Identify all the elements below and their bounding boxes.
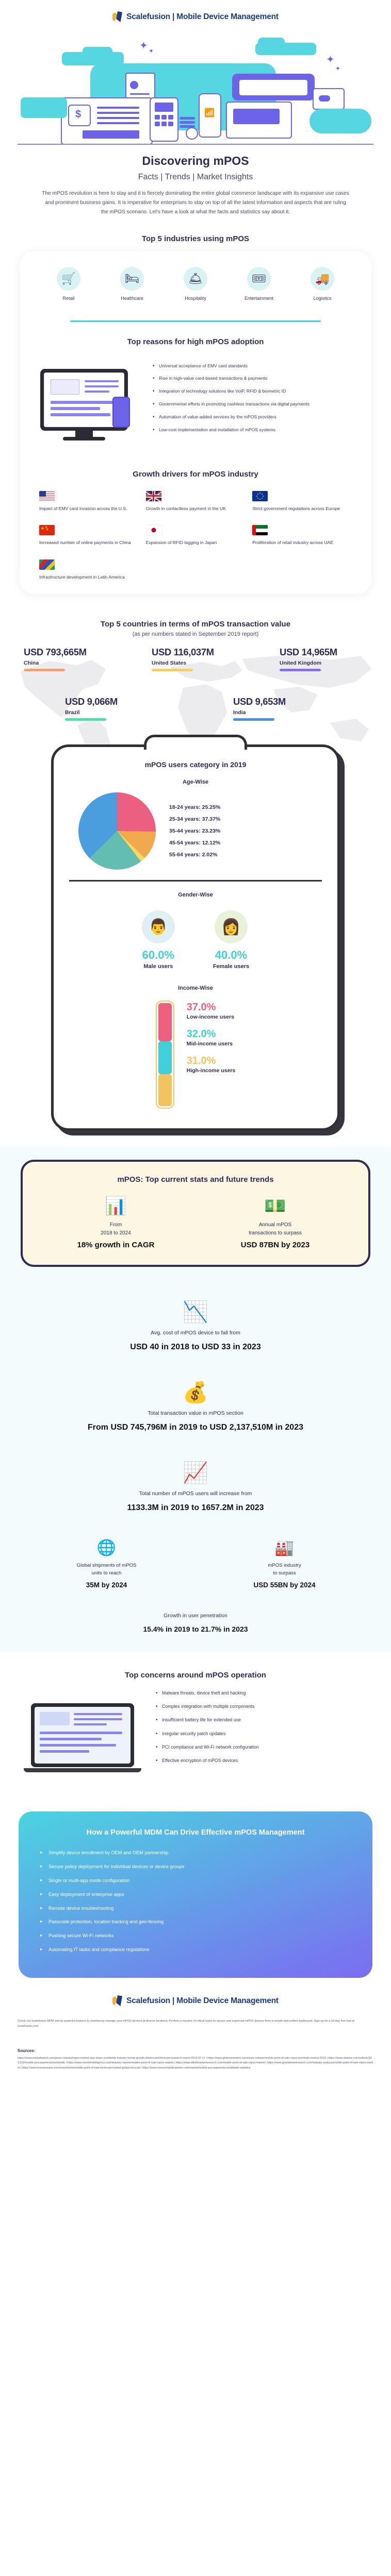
footer-brand-name: Scalefusion | Mobile Device Management [126, 1996, 279, 2006]
stat-item: 📊 From 2018 to 2024 18% growth in CAGR [52, 1197, 181, 1249]
stat-value: USD 55BN by 2024 [218, 1581, 352, 1589]
cta-item: Passcode protection, location tracking a… [39, 1919, 352, 1926]
globe-shipment-icon: 🌐 [40, 1539, 174, 1557]
adoption-reason: Low-cost implementation and installation… [153, 427, 356, 433]
stat-value: 15.4% in 2019 to 21.7% in 2023 [21, 1624, 370, 1635]
cta-item: Simplify device enrollment by OEM and OE… [39, 1850, 352, 1857]
country-value: USD 116,037M [152, 647, 255, 658]
industry-label: Retail [38, 296, 99, 301]
intro-paragraph: The mPOS revolution is here to stay and … [41, 189, 350, 217]
income-label: Mid-income users [187, 1041, 236, 1047]
sources-heading: Sources: [18, 2048, 373, 2053]
industry-label: Entertainment [229, 296, 289, 301]
concerns-heading: Top concerns around mPOS operation [0, 1671, 391, 1680]
stat-caption: Annual mPOS transactions to surpass [211, 1221, 340, 1237]
stat-value: 35M by 2024 [40, 1581, 174, 1589]
age-legend-item: 45-54 years: 12.12% [169, 840, 220, 846]
stat-value: USD 87BN by 2023 [211, 1241, 340, 1249]
income-pct: 32.0% [187, 1028, 236, 1040]
male-avatar-icon: 👨 [142, 910, 175, 943]
flag-eu-icon [252, 491, 268, 501]
adoption-reason: Integration of technology solutions like… [153, 388, 356, 395]
infographic-page: Scalefusion | Mobile Device Management ✦… [0, 0, 391, 2076]
ticket-icon: 🎟 [247, 267, 271, 291]
industries-heading: Top 5 industries using mPOS [0, 234, 391, 243]
income-thermometer [156, 1001, 174, 1109]
cta-heading: How a Powerful MDM Can Drive Effective m… [39, 1827, 352, 1838]
country-underline [65, 718, 106, 721]
stat-item: 💵 Annual mPOS transactions to surpass US… [211, 1197, 340, 1249]
growth-driver-item: Growth in contactless payment in the UK [146, 491, 246, 512]
concern-item: Malware threats, device theft and hackin… [156, 1690, 259, 1697]
stat-caption: Growth in user penetration [21, 1613, 370, 1619]
age-legend-item: 18-24 years: 25.25% [169, 804, 220, 810]
growth-arrow-icon: 📈 [21, 1463, 370, 1483]
country-value: USD 793,665M [24, 647, 127, 658]
gender-item: 👨 60.0% Male users [142, 910, 175, 970]
growth-driver-label: Increased number of online payments in C… [39, 539, 139, 546]
cta-item: Remote device troubleshooting [39, 1905, 352, 1912]
growth-driver-item: Proliferation of retail industry across … [252, 525, 352, 546]
income-list: 37.0% Low-income users 32.0% Mid-income … [187, 1001, 236, 1109]
industry-item: 🛏 Healthcare [102, 267, 162, 301]
countries-section: Top 5 countries in terms of mPOS transac… [0, 602, 391, 741]
country-name: India [233, 709, 336, 716]
stat-block: 💰 Total transaction value in mPOS sectio… [0, 1359, 391, 1439]
age-legend-item: 55-64 years: 2.02% [169, 852, 220, 858]
scalefusion-logo-icon [112, 11, 123, 23]
country-name: United Kingdom [280, 660, 367, 666]
brand-name: Scalefusion | Mobile Device Management [126, 12, 279, 22]
income-item: 31.0% High-income users [187, 1055, 236, 1074]
industry-label: Hospitality [165, 296, 226, 301]
flag-jp-icon [146, 525, 161, 535]
growth-drivers-grid: Impact of EMV card invasion across the U… [35, 491, 356, 581]
cta-panel: How a Powerful MDM Can Drive Effective m… [19, 1811, 372, 1978]
tablet-divider [69, 880, 322, 882]
declining-bars-icon: 📉 [21, 1302, 370, 1323]
banknotes-icon: 💵 [211, 1197, 340, 1215]
growth-driver-label: Expansion of RFID tagging in Japan [146, 539, 246, 546]
stat-caption: mPOS industry to surpass [218, 1562, 352, 1577]
stat-item: 🌐 Global shipments of mPOS units to reac… [40, 1539, 174, 1589]
growth-driver-label: Infrastructure development in Latin Amer… [39, 574, 139, 581]
country-name: Brazil [65, 709, 168, 716]
header-brand: Scalefusion | Mobile Device Management [0, 0, 391, 30]
country-item: USD 9,066M Brazil [65, 696, 168, 721]
concern-item: PCI compliance and Wi-Fi network configu… [156, 1744, 259, 1751]
stats-bottom-two: 🌐 Global shipments of mPOS units to reac… [0, 1524, 391, 1592]
cta-list: Simplify device enrollment by OEM and OE… [39, 1850, 352, 1953]
cta-item: Automating IT tasks and compliance regul… [39, 1946, 352, 1954]
sources-list: https://www.marketwatch.com/press-releas… [18, 2056, 373, 2071]
country-name: United States [152, 660, 255, 666]
stats-card: mPOS: Top current stats and future trend… [21, 1160, 370, 1267]
country-underline [280, 669, 321, 671]
age-legend-item: 35-44 years: 23.23% [169, 828, 220, 834]
adoption-reason: Automation of value-added services by th… [153, 414, 356, 420]
hero-illustration: ✦ ✦ ✦ ✦ $ 📶 [0, 31, 391, 151]
age-wise-label: Age-Wise [69, 779, 322, 785]
truck-icon: 🚚 [311, 267, 334, 291]
flag-ae-icon [252, 525, 268, 535]
cta-item: Single or multi-app mode configuration [39, 1877, 352, 1885]
concern-item: Effective encryption of mPOS devices [156, 1757, 259, 1764]
industry-label: Logistics [292, 296, 353, 301]
flag-uk-icon [146, 491, 161, 501]
stats-heading: mPOS: Top current stats and future trend… [36, 1175, 355, 1184]
industries-card: 🛒 Retail 🛏 Healthcare 🛎 Hospitality 🎟 En… [20, 251, 371, 595]
hospital-bed-icon: 🛏 [120, 267, 144, 291]
concern-item: Insufficient battery life for extended u… [156, 1717, 259, 1723]
tablet-frame: mPOS users category in 2019 Age-Wise 18-… [51, 744, 340, 1131]
growth-driver-label: Strict government regulations across Eur… [252, 505, 352, 512]
adoption-reason: Universal acceptance of EMV card standar… [153, 363, 356, 369]
stat-caption: Avg. cost of mPOS device to fall from [21, 1330, 370, 1336]
country-name: China [24, 660, 127, 666]
income-item: 37.0% Low-income users [187, 1002, 236, 1020]
stat-value: USD 40 in 2018 to USD 33 in 2023 [21, 1341, 370, 1353]
gender-pct: 60.0% [142, 948, 175, 962]
income-pct: 31.0% [187, 1055, 236, 1067]
country-underline [152, 669, 193, 671]
cta-item: Pushing secure Wi-Fi networks [39, 1933, 352, 1940]
adoption-heading: Top reasons for high mPOS adoption [35, 337, 356, 346]
cta-item: Easy deployment of enterprise apps [39, 1891, 352, 1899]
gender-wise-label: Gender-Wise [69, 892, 322, 898]
income-wise-label: Income-Wise [69, 985, 322, 991]
stat-value: From USD 745,796M in 2019 to USD 2,137,5… [21, 1421, 370, 1434]
gender-label: Female users [213, 963, 249, 970]
income-label: High-income users [187, 1067, 236, 1074]
country-value: USD 9,066M [65, 696, 168, 707]
stat-block: 📈 Total number of mPOS users will increa… [0, 1439, 391, 1524]
cta-item: Secure policy deployment for individual … [39, 1863, 352, 1871]
country-value: USD 14,965M [280, 647, 367, 658]
flag-cn-icon: ★ ★ ★ [39, 525, 55, 535]
industry-item: 🛎 Hospitality [165, 267, 226, 301]
growth-driver-label: Proliferation of retail industry across … [252, 539, 352, 546]
age-legend: 18-24 years: 25.25% 25-34 years: 37.37% … [169, 799, 220, 863]
countries-grid: USD 793,665M China USD 116,037M United S… [0, 637, 391, 721]
adoption-reasons-list: Universal acceptance of EMV card standar… [153, 360, 356, 439]
footer-note: Check out Scalefusion MDM and its powerf… [0, 2014, 391, 2042]
stat-value: 18% growth in CAGR [52, 1241, 181, 1249]
industry-item: 🛒 Retail [38, 267, 99, 301]
growth-driver-label: Growth in contactless payment in the UK [146, 505, 246, 512]
stat-block-penetration: Growth in user penetration 15.4% in 2019… [0, 1592, 391, 1652]
growth-driver-item: Expansion of RFID tagging in Japan [146, 525, 246, 546]
industry-icon: 🏭 [218, 1539, 352, 1557]
growth-driver-item: Strict government regulations across Eur… [252, 491, 352, 512]
industry-item: 🎟 Entertainment [229, 267, 289, 301]
country-underline [24, 669, 65, 671]
female-avatar-icon: 👩 [215, 910, 248, 943]
age-legend-item: 25-34 years: 37.37% [169, 816, 220, 822]
section-divider [70, 320, 320, 322]
country-item: USD 9,653M India [233, 696, 336, 721]
report-growth-icon: 📊 [52, 1197, 181, 1215]
sources-block: Sources: https://www.marketwatch.com/pre… [0, 2042, 391, 2076]
stat-caption: Global shipments of mPOS units to reach [40, 1562, 174, 1577]
growth-drivers-heading: Growth drivers for mPOS industry [35, 470, 356, 479]
users-category-title: mPOS users category in 2019 [69, 760, 322, 769]
country-item: USD 793,665M China [24, 647, 127, 671]
footer-brand: Scalefusion | Mobile Device Management [0, 1978, 391, 2014]
scalefusion-logo-icon [112, 1995, 123, 2007]
page-subtitle: Facts | Trends | Market Insights [0, 173, 391, 182]
adoption-reason: Rise in high-value card-based transactio… [153, 375, 356, 382]
concern-item: Irregular security patch updates [156, 1731, 259, 1737]
monitor-illustration [35, 360, 143, 457]
stat-caption: From 2018 to 2024 [52, 1221, 181, 1237]
country-item: USD 14,965M United Kingdom [280, 647, 367, 671]
stat-caption: Total number of mPOS users will increase… [21, 1490, 370, 1497]
income-item: 32.0% Mid-income users [187, 1028, 236, 1047]
concerns-section: Top concerns around mPOS operation [0, 1652, 391, 1798]
money-bag-icon: 💰 [21, 1382, 370, 1403]
countries-heading: Top 5 countries in terms of mPOS transac… [0, 620, 391, 629]
gender-label: Male users [142, 963, 175, 970]
stats-section: mPOS: Top current stats and future trend… [0, 1146, 391, 1284]
income-label: Low-income users [187, 1014, 236, 1020]
laptop-illustration [24, 1690, 148, 1788]
stat-value: 1133.3M in 2019 to 1657.2M in 2023 [21, 1502, 370, 1514]
shopping-cart-icon: 🛒 [57, 267, 80, 291]
country-value: USD 9,653M [233, 696, 336, 707]
stat-caption: Total transaction value in mPOS section [21, 1410, 370, 1416]
flag-us-icon [39, 491, 55, 501]
concern-item: Complex integration with multiple compon… [156, 1703, 259, 1710]
industry-item: 🚚 Logistics [292, 267, 353, 301]
gender-pct: 40.0% [213, 948, 249, 962]
users-category-section: mPOS users category in 2019 Age-Wise 18-… [0, 741, 391, 1146]
stat-block: 📉 Avg. cost of mPOS device to fall from … [0, 1284, 391, 1359]
concerns-list: Malware threats, device theft and hackin… [156, 1690, 259, 1771]
country-underline [233, 718, 274, 721]
stat-item: 🏭 mPOS industry to surpass USD 55BN by 2… [218, 1539, 352, 1589]
growth-driver-label: Impact of EMV card invasion across the U… [39, 505, 139, 512]
bell-hop-icon: 🛎 [184, 267, 207, 291]
age-pie-chart [78, 792, 156, 870]
growth-driver-item: ★ ★ ★ Increased number of online payment… [39, 525, 139, 546]
adoption-reason: Governmental efforts in promoting cashle… [153, 401, 356, 408]
countries-subheading: (as per numbers stated in September 2019… [0, 631, 391, 637]
growth-driver-item: Impact of EMV card invasion across the U… [39, 491, 139, 512]
country-item: USD 116,037M United States [152, 647, 255, 671]
income-pct: 37.0% [187, 1002, 236, 1013]
growth-driver-item: Infrastructure development in Latin Amer… [39, 560, 139, 581]
gender-item: 👩 40.0% Female users [213, 910, 249, 970]
flag-latam-icon [39, 560, 55, 570]
industry-label: Healthcare [102, 296, 162, 301]
page-title: Discovering mPOS [0, 154, 391, 168]
